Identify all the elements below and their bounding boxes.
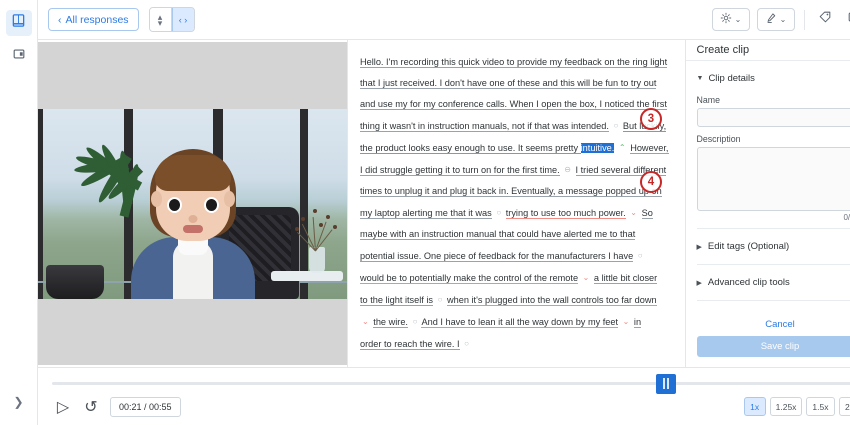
video-clip-icon [847,10,850,29]
sentiment-marker-icon[interactable]: ○ [636,251,645,260]
transcript-segment[interactable]: However, [630,143,668,154]
transcript-line[interactable]: would be to potentially make the control… [360,267,669,289]
sentiment-marker-icon[interactable]: ○ [612,121,621,130]
transcript-line[interactable]: maybe with an instruction manual that co… [360,224,669,245]
all-responses-button[interactable]: ‹ All responses [48,8,139,31]
transcript-segment[interactable]: times to unplug it and plug it back in. … [360,186,662,197]
name-label: Name [697,95,850,105]
sentiment-marker-icon[interactable]: ○ [436,295,445,304]
transcript-line[interactable]: that I just received. I don't have one o… [360,73,669,94]
chevron-down-icon: ▾ [158,20,163,26]
avatar [129,149,257,299]
transcript-segment[interactable]: thing it wasn't in instruction manuals, … [360,121,609,132]
transcript-segment[interactable]: the wire. [373,317,408,328]
transcript-line[interactable]: I did struggle getting it to turn on for… [360,159,669,181]
transcript-segment[interactable]: my laptop alerting me that it was [360,208,492,219]
clips-icon [12,47,26,66]
sentiment-marker-icon[interactable]: ⌃ [617,143,628,152]
highlight-button[interactable]: ⌄ [757,8,795,31]
all-responses-label: All responses [66,14,129,26]
tag-icon [818,10,832,29]
time-display: 00:21 / 00:55 [110,397,181,417]
transcript-segment[interactable]: I did struggle getting it to turn on for… [360,165,560,176]
rail-collapse-button[interactable]: ❯ [6,389,32,415]
advanced-clip-tools-accordion[interactable]: ▶ Advanced clip tools [697,271,850,294]
panel-body: ▼ Clip details Name Description 0/140 ▶ … [686,61,850,307]
transcript-line[interactable]: times to unplug it and plug it back in. … [360,181,669,202]
description-textarea[interactable] [697,147,850,211]
sentiment-marker-icon[interactable]: ⌄ [621,317,632,326]
transcript-line[interactable]: to the light itself is ○ when it's plugg… [360,289,669,311]
handle-grip-icon [663,378,665,389]
sentiment-marker-icon[interactable]: ⌄ [628,208,639,217]
tag-button[interactable] [814,9,836,31]
chevron-down-icon: ▼ [697,75,704,82]
transcript-text[interactable]: Hello. I'm recording this quick video to… [360,52,669,355]
main-body: ‹ All responses ▴ ▾ ‹ › [38,0,850,425]
top-toolbar: ‹ All responses ▴ ▾ ‹ › [38,0,850,40]
transcript-segment[interactable]: to the light itself is [360,295,433,306]
video-frame-content [38,109,347,299]
player-controls: ▷ ↺ 00:21 / 00:55 1x1.25x1.5x2x [52,397,850,417]
edit-tags-label: Edit tags (Optional) [708,241,789,252]
speed-option-1x[interactable]: 1x [744,397,766,416]
edit-tags-accordion[interactable]: ▶ Edit tags (Optional) [697,235,850,258]
save-clip-button[interactable]: Save clip [697,336,850,357]
clip-range-handle[interactable] [656,374,676,394]
left-rail: ❯ [0,0,38,425]
panel-footer: Cancel Save clip [686,307,850,367]
speed-option-1.25x[interactable]: 1.25x [770,397,803,416]
transcript-segment[interactable]: the product looks easy enough to use. It… [360,143,581,154]
transcript-line[interactable]: ⌄ the wire. ○ And I have to lean it all … [360,311,669,333]
timeline-track-wrap[interactable] [52,377,850,391]
avatar-pupil [206,199,217,211]
transcript-segment[interactable]: intuitive. [581,143,615,153]
transcript-segment[interactable]: So [642,208,653,219]
video-column [38,40,348,367]
settings-button[interactable]: ⌄ [712,8,750,31]
transcript-line[interactable]: Hello. I'm recording this quick video to… [360,52,669,73]
gear-icon [720,11,732,29]
sentiment-marker-icon[interactable]: ⊖ [562,165,573,174]
response-nav-group: ▴ ▾ ‹ › [149,7,195,32]
avatar-mouth [183,225,203,233]
rail-item-clips[interactable] [6,43,32,69]
transcript-segment[interactable]: and use my for my conference calls. When… [360,99,667,110]
rail-item-transcript[interactable] [6,10,32,36]
chevron-down-icon: ⌄ [735,15,742,24]
cancel-button[interactable]: Cancel [697,313,850,336]
panel-divider [697,228,850,229]
clip-details-accordion[interactable]: ▼ Clip details [697,69,850,88]
highlighter-icon [765,11,777,29]
sentiment-marker-icon[interactable]: ○ [462,339,471,348]
transcript-segment[interactable]: Hello. I'm recording this quick video to… [360,57,667,68]
transcript-segment[interactable]: when it's plugged into the wall controls… [447,295,657,306]
replay-button[interactable]: ↺ [80,397,102,417]
advanced-clip-tools-label: Advanced clip tools [708,277,790,288]
chevron-right-icon: ▶ [697,279,702,287]
transcript-segment[interactable]: potential issue. One piece of feedback f… [360,251,633,262]
speed-option-2x[interactable]: 2x [839,397,850,416]
transcript-segment[interactable]: And I have to lean it all the way down b… [421,317,618,328]
chevron-left-icon: ‹ [58,14,62,26]
dried-flowers [293,207,339,251]
timeline-track[interactable] [52,382,850,385]
transcript-line[interactable]: my laptop alerting me that it was ○ tryi… [360,202,669,224]
name-input[interactable] [697,108,850,127]
transcript-segment[interactable]: in [634,317,641,328]
transcript-line[interactable]: order to reach the wire. I ○ [360,333,669,355]
transcript-segment[interactable]: maybe with an instruction manual that co… [360,229,635,240]
create-clip-button[interactable] [843,9,850,31]
avatar-ear [224,191,235,207]
video-player[interactable] [38,42,347,365]
transcript-line[interactable]: and use my for my conference calls. When… [360,94,669,115]
main-content: Hello. I'm recording this quick video to… [38,40,850,367]
panel-title: Create clip [697,44,750,56]
playback-speed-group: 1x1.25x1.5x2x [744,397,850,416]
transcript-segment[interactable]: would be to potentially make the control… [360,273,578,284]
avatar-nose [188,215,197,223]
toolbar-right-group: ⌄ ⌄ [712,8,850,31]
sentiment-marker-icon[interactable]: ⌄ [360,317,371,326]
avatar-pupil [169,199,180,211]
avatar-ear [151,191,162,207]
transcript-line[interactable]: the product looks easy enough to use. It… [360,137,669,159]
side-table [271,271,343,281]
description-label: Description [697,134,850,144]
handle-grip-icon [667,378,669,389]
clip-details-label: Clip details [708,73,754,84]
sentiment-marker-icon[interactable]: ○ [411,317,420,326]
player-bar: ▷ ↺ 00:21 / 00:55 1x1.25x1.5x2x [38,367,850,425]
chevron-down-icon: ⌄ [780,15,787,24]
toolbar-divider [804,10,805,30]
transcript-segment[interactable]: trying to use too much power. [506,208,626,219]
response-stepper[interactable]: ▴ ▾ [150,8,172,31]
annotation-marker: 3 [640,108,662,130]
sentiment-marker-icon[interactable]: ⌄ [581,273,592,282]
sentiment-marker-icon[interactable]: ○ [494,208,503,217]
annotation-marker: 4 [640,171,662,193]
panel-divider [697,264,850,265]
create-clip-panel: Create clip ✕ ▼ Clip details Name Descri… [685,40,850,367]
clip-editor-app: ❯ ‹ All responses ▴ ▾ ‹ › [0,0,850,425]
transcript-segment[interactable]: that I just received. I don't have one o… [360,78,656,89]
avatar-bangs [155,155,231,191]
speed-option-1.5x[interactable]: 1.5x [806,397,834,416]
transcript-line[interactable]: potential issue. One piece of feedback f… [360,245,669,267]
character-counter: 0/140 [697,213,850,222]
panel-header: Create clip ✕ [686,40,850,61]
chevron-right-icon: ▶ [697,243,702,251]
play-button[interactable]: ▷ [52,397,74,417]
transcript-panel[interactable]: Hello. I'm recording this quick video to… [348,40,685,367]
transcript-segment[interactable]: a little bit closer [594,273,657,284]
transcript-icon [11,13,26,33]
prev-next-toggle[interactable]: ‹ › [172,8,194,31]
panel-divider [697,300,850,301]
transcript-segment[interactable]: order to reach the wire. I [360,339,460,350]
transcript-line[interactable]: thing it wasn't in instruction manuals, … [360,115,669,137]
